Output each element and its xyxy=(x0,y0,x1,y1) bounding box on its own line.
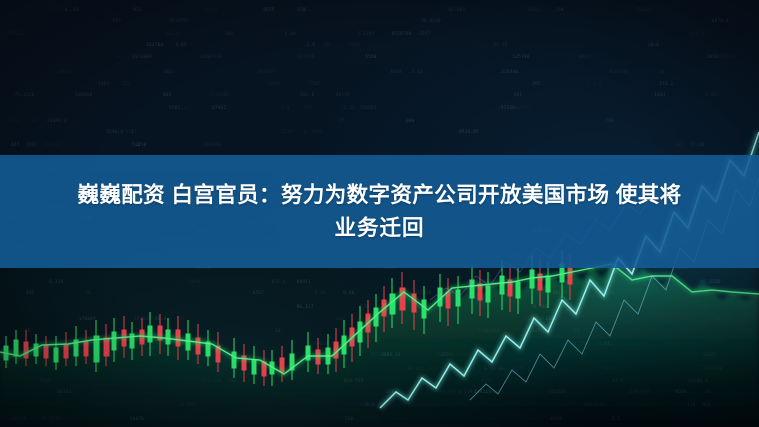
headline-line-2: 业务迁回 xyxy=(334,212,424,245)
headline-banner: 巍巍配资 白宫官员：努力为数字资产公司开放美国市场 使其将 业务迁回 xyxy=(0,155,759,268)
headline-line-1: 巍巍配资 白宫官员：努力为数字资产公司开放美国市场 使其将 xyxy=(77,179,681,212)
screenshot-canvas: 8..6318861031.774234.05555652921932670..… xyxy=(0,0,759,427)
